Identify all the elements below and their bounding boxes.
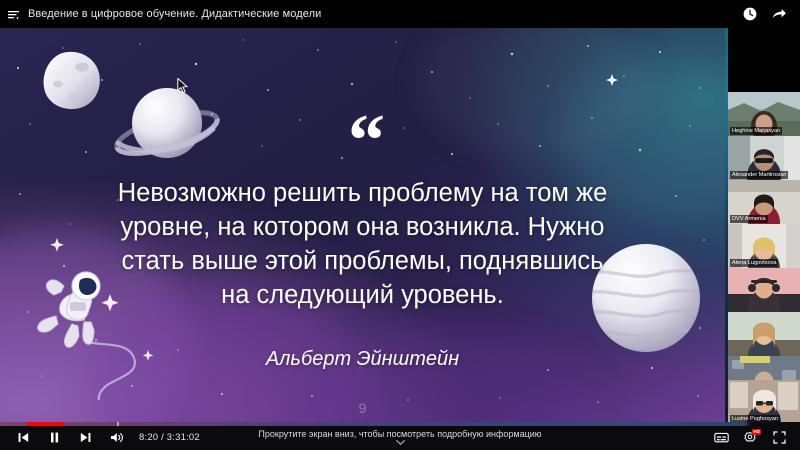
player-controls-bar: 8:20 / 3:31:02 Прокрутите экран вниз, чт… xyxy=(0,424,800,450)
top-bar-actions xyxy=(742,6,800,22)
video-title: Введение в цифровое обучение. Дидактичес… xyxy=(26,8,321,20)
next-track-icon xyxy=(79,431,92,444)
participant-name: Alena Lugovtsova xyxy=(730,259,778,267)
share-arrow-icon[interactable] xyxy=(771,6,787,22)
next-track-button[interactable] xyxy=(70,424,101,450)
top-bar: Введение в цифровое обучение. Дидактичес… xyxy=(0,0,800,28)
participant-tile[interactable] xyxy=(728,268,800,312)
player-right-controls: HD xyxy=(708,424,792,450)
time-display: 8:20 / 3:31:02 xyxy=(132,432,200,443)
participant-tile[interactable]: Alexander Martirosian xyxy=(728,136,800,180)
participant-name: DVV Armenia xyxy=(730,215,768,223)
volume-button[interactable] xyxy=(101,424,132,450)
participant-name: Heghine Manasyan xyxy=(730,127,782,135)
participant-tile[interactable]: Lusine Poghosyan xyxy=(728,380,800,424)
participant-rail[interactable]: Heghine Manasyan Alexander Martirosian xyxy=(725,28,800,424)
quote-mark-icon: “ xyxy=(348,118,394,164)
participant-tile[interactable]: Alena Lugovtsova xyxy=(728,224,800,268)
participant-name: Alexander Martirosian xyxy=(730,171,788,179)
subtitles-icon xyxy=(714,431,729,444)
quality-settings-button[interactable]: HD xyxy=(737,424,763,450)
ringed-planet xyxy=(112,73,222,175)
slide-stage[interactable]: “ Невозможно решить проблему на том же у… xyxy=(0,28,725,424)
scroll-hint-text: Прокрутите экран вниз, чтобы посмотреть … xyxy=(258,429,541,439)
player-left-controls: 8:20 / 3:31:02 xyxy=(8,424,200,450)
previous-track-button[interactable] xyxy=(8,424,39,450)
quote-author: Альберт Эйнштейн xyxy=(110,346,615,372)
participant-tile[interactable] xyxy=(728,312,800,356)
slide-number: 9 xyxy=(0,400,725,416)
participant-video xyxy=(728,312,800,356)
participant-tile[interactable]: DVV Armenia xyxy=(728,180,800,224)
subtitles-button[interactable] xyxy=(708,424,734,450)
volume-icon xyxy=(110,431,124,444)
asteroid-top-left xyxy=(38,50,104,112)
chevron-down-icon xyxy=(396,440,405,445)
previous-track-icon xyxy=(17,431,30,444)
hamburger-menu-icon[interactable] xyxy=(0,0,26,28)
pause-button[interactable] xyxy=(39,424,70,450)
nebula-blob xyxy=(420,28,650,158)
participant-tile[interactable]: Heghine Manasyan xyxy=(728,92,800,136)
fullscreen-button[interactable] xyxy=(766,424,792,450)
participant-video xyxy=(728,268,800,312)
quote-text: Невозможно решить проблему на том же уро… xyxy=(110,176,615,312)
clock-icon[interactable] xyxy=(742,6,758,22)
video-player-page: Введение в цифровое обучение. Дидактичес… xyxy=(0,0,800,450)
fullscreen-icon xyxy=(773,431,786,444)
pause-icon xyxy=(48,431,61,444)
mouse-cursor xyxy=(177,78,188,94)
hd-badge: HD xyxy=(752,429,761,435)
